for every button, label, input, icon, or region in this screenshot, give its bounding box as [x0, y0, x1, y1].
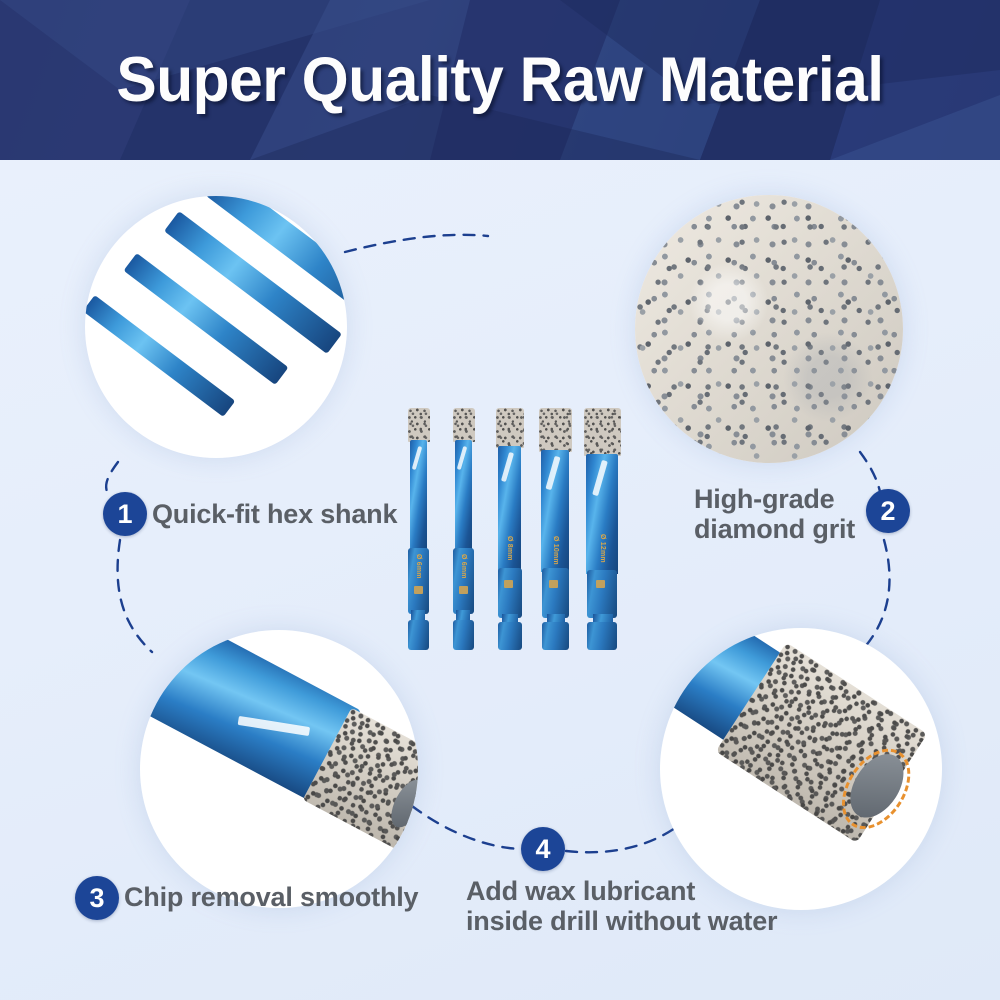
- hex-shank: [587, 570, 617, 618]
- grit-crown: [453, 408, 475, 442]
- connector-hex-to-product: [345, 235, 488, 252]
- bit-size-label: Ø 6mm: [415, 554, 422, 579]
- brand-logo: [414, 586, 423, 594]
- page-title: Super Quality Raw Material: [20, 0, 980, 160]
- brand-logo: [549, 580, 558, 588]
- bit-size-label: Ø 8mm: [506, 536, 513, 561]
- brand-logo: [596, 580, 605, 588]
- bit-size-label: Ø 10mm: [552, 536, 559, 565]
- connector-badge2-to-circle4: [864, 540, 890, 648]
- hex-shank-end: [587, 622, 617, 650]
- feature-badge-2: 2: [866, 489, 910, 533]
- feature-label-3: Chip removal smoothly: [124, 882, 418, 912]
- drill-bit-4: Ø 10mm: [539, 408, 572, 650]
- brand-logo: [459, 586, 468, 594]
- hex-shank-image-content: [85, 196, 347, 458]
- hex-shank: [498, 568, 522, 618]
- grit-crown: [584, 408, 621, 456]
- connector-badge4-to-circle4: [566, 826, 678, 852]
- hex-shank-end: [498, 622, 522, 650]
- feature-badge-1: 1: [103, 492, 147, 536]
- brand-logo: [504, 580, 513, 588]
- bit-size-label: Ø 12mm: [599, 534, 606, 563]
- hex-rod-2: [124, 253, 289, 385]
- wax-lubricant-photo: [660, 628, 942, 910]
- diamond-grit-photo: [635, 195, 903, 463]
- header-banner: Super Quality Raw Material: [0, 0, 1000, 160]
- drill-bit-3: Ø 8mm: [496, 408, 524, 650]
- connector-circle3-to-badge4: [412, 806, 521, 849]
- bit-size-label: Ø 6mm: [460, 554, 467, 579]
- chip-removal-image-content: [140, 630, 418, 866]
- grit-crown: [539, 408, 572, 452]
- feature-label-2: High-grade diamond grit: [694, 484, 855, 544]
- hex-shank-photo: [85, 196, 347, 458]
- drill-bit-5: Ø 12mm: [584, 408, 621, 650]
- grit-crown: [408, 408, 430, 442]
- hex-shank-end: [453, 620, 474, 650]
- drill-bit-2: Ø 6mm: [453, 408, 475, 650]
- hex-shank-end: [408, 620, 429, 650]
- feature-label-1: Quick-fit hex shank: [152, 499, 397, 529]
- hex-rod-3: [164, 211, 342, 354]
- feature-badge-3: 3: [75, 876, 119, 920]
- hex-shank-end: [542, 622, 569, 650]
- hex-shank: [542, 568, 569, 618]
- chip-removal-photo: [140, 630, 418, 908]
- connector-circle1-to-badge1: [106, 462, 118, 494]
- infographic-page: Super Quality Raw Material: [0, 0, 1000, 1000]
- feature-badge-4: 4: [521, 827, 565, 871]
- feature-label-4: Add wax lubricant inside drill without w…: [466, 876, 777, 936]
- wax-lubricant-image-content: [660, 628, 942, 882]
- drill-bit-set: Ø 6mm Ø 6mm Ø 8mm: [400, 390, 610, 650]
- drill-bit-1: Ø 6mm: [408, 408, 430, 650]
- diamond-grit-image-content: [635, 195, 903, 463]
- grit-crown: [496, 408, 524, 448]
